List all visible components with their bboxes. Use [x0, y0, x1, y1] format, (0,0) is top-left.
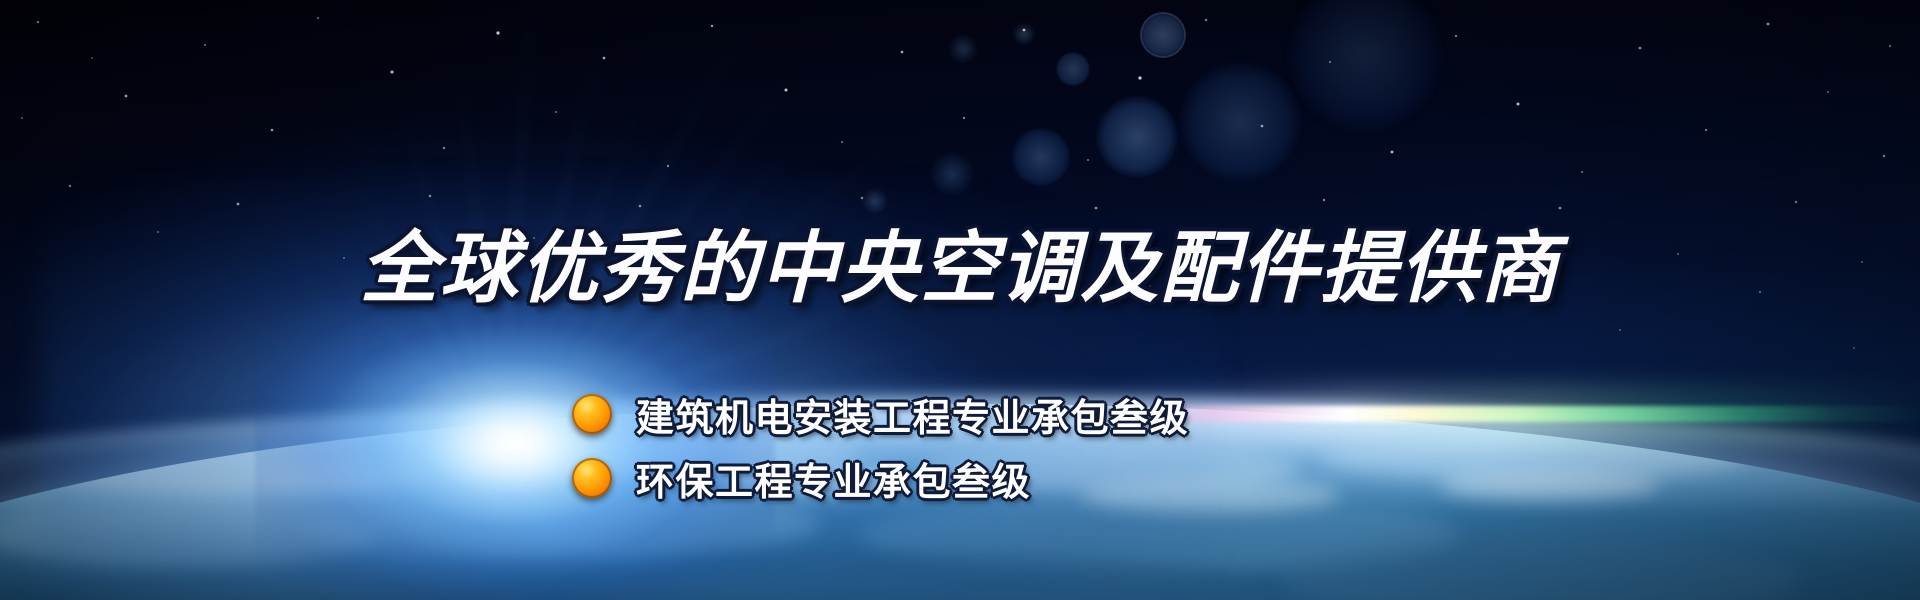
lens-flare-orb	[930, 152, 974, 196]
certification-list: 建筑机电安装工程专业承包叁级 环保工程专业承包叁级	[572, 382, 1189, 510]
lens-flare-orb	[948, 34, 978, 64]
lens-flare-orb	[1140, 12, 1186, 58]
lens-flare-streak	[1140, 406, 1920, 422]
list-item: 建筑机电安装工程专业承包叁级	[572, 382, 1189, 446]
lens-flare-orb	[1012, 22, 1036, 46]
lens-flare-orb	[1012, 128, 1070, 186]
hero-banner: 全球优秀的中央空调及配件提供商 建筑机电安装工程专业承包叁级 环保工程专业承包叁…	[0, 0, 1920, 600]
lens-flare-orb	[1096, 96, 1178, 178]
list-item-label: 建筑机电安装工程专业承包叁级	[636, 387, 1189, 442]
lens-flare-orb	[1180, 62, 1300, 182]
page-title: 全球优秀的中央空调及配件提供商	[0, 206, 1920, 318]
list-item-label: 环保工程专业承包叁级	[636, 451, 1031, 506]
orange-bullet-icon	[572, 394, 612, 434]
list-item: 环保工程专业承包叁级	[572, 446, 1189, 510]
lens-flare-orb	[1056, 52, 1090, 86]
orange-bullet-icon	[572, 458, 612, 498]
